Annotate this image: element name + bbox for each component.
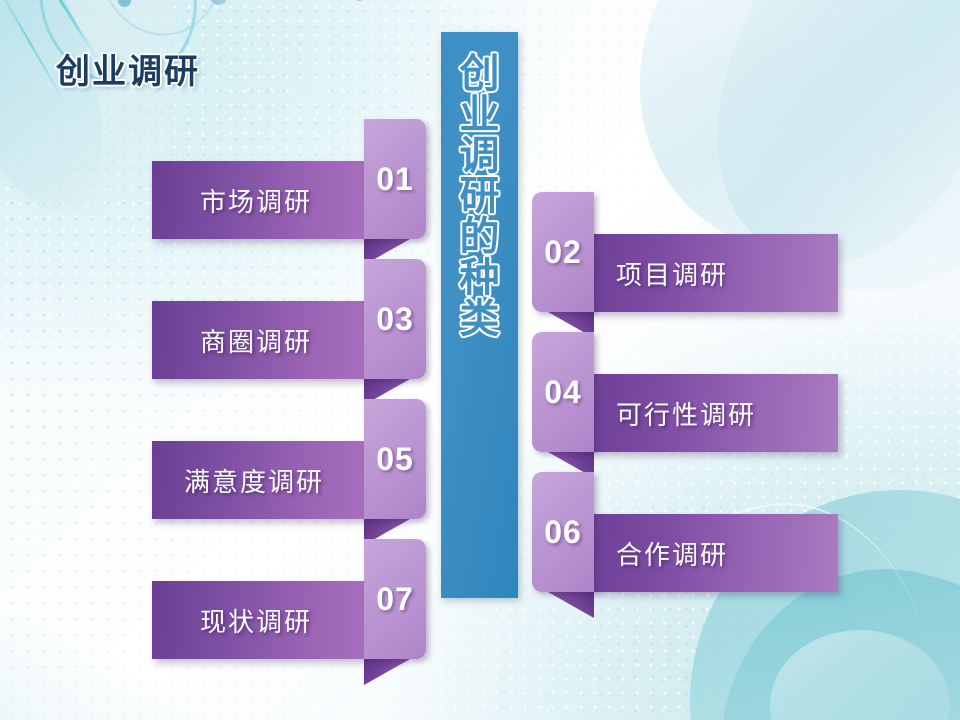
center-pillar-char-3: 研 bbox=[460, 176, 500, 217]
center-pillar-char-5: 种 bbox=[460, 258, 500, 299]
item-bar[interactable]: 可行性调研 bbox=[588, 374, 838, 452]
item-number: 04 bbox=[544, 374, 582, 411]
item-number-badge[interactable]: 02 bbox=[532, 192, 594, 312]
item-number-badge[interactable]: 01 bbox=[364, 119, 426, 239]
item-bar[interactable]: 项目调研 bbox=[588, 234, 838, 312]
item-number: 03 bbox=[376, 301, 414, 338]
item-label: 可行性调研 bbox=[616, 374, 756, 452]
item-label: 满意度调研 bbox=[184, 441, 324, 519]
item-label: 市场调研 bbox=[200, 161, 312, 239]
center-pillar-char-2: 调 bbox=[460, 136, 500, 177]
center-pillar-char-4: 的 bbox=[460, 217, 500, 258]
slide-canvas: 创业调研 创 业 调 研 的 种 类 市场调研 01 商圈调研 03 bbox=[0, 0, 960, 720]
page-title: 创业调研 bbox=[56, 44, 200, 93]
item-number-badge[interactable]: 06 bbox=[532, 472, 594, 592]
center-pillar-text: 创 业 调 研 的 种 类 bbox=[441, 54, 518, 340]
item-number: 01 bbox=[376, 161, 414, 198]
list-item-left-07[interactable]: 现状调研 07 bbox=[152, 559, 442, 679]
list-item-left-01[interactable]: 市场调研 01 bbox=[152, 139, 442, 259]
item-number-badge[interactable]: 05 bbox=[364, 399, 426, 519]
item-label: 合作调研 bbox=[616, 514, 728, 592]
item-number: 06 bbox=[544, 514, 582, 551]
list-item-right-04[interactable]: 可行性调研 04 bbox=[524, 352, 824, 472]
item-number-badge[interactable]: 03 bbox=[364, 259, 426, 379]
center-pillar-char-1: 业 bbox=[460, 95, 500, 136]
list-item-right-02[interactable]: 项目调研 02 bbox=[524, 212, 824, 332]
center-pillar: 创 业 调 研 的 种 类 bbox=[441, 32, 518, 598]
list-item-right-06[interactable]: 合作调研 06 bbox=[524, 492, 824, 612]
item-number: 07 bbox=[376, 581, 414, 618]
list-item-left-03[interactable]: 商圈调研 03 bbox=[152, 279, 442, 399]
item-label: 项目调研 bbox=[616, 234, 728, 312]
item-number: 05 bbox=[376, 441, 414, 478]
item-label: 商圈调研 bbox=[200, 301, 312, 379]
list-item-left-05[interactable]: 满意度调研 05 bbox=[152, 419, 442, 539]
item-number-badge[interactable]: 04 bbox=[532, 332, 594, 452]
center-pillar-char-6: 类 bbox=[460, 299, 500, 340]
item-number: 02 bbox=[544, 234, 582, 271]
item-number-badge[interactable]: 07 bbox=[364, 539, 426, 659]
item-label: 现状调研 bbox=[200, 581, 312, 659]
center-pillar-char-0: 创 bbox=[460, 54, 500, 95]
item-bar[interactable]: 合作调研 bbox=[588, 514, 838, 592]
